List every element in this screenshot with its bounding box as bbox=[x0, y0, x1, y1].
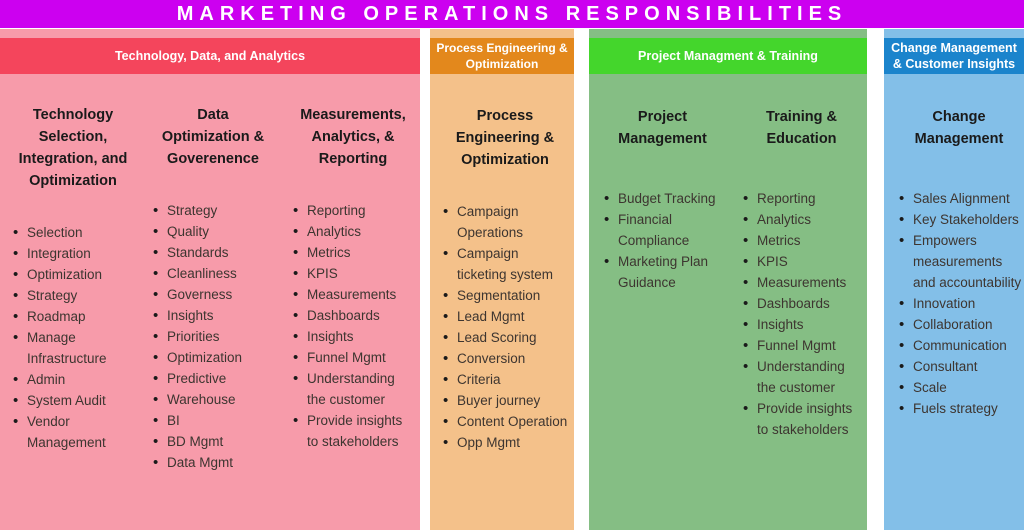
list-item: Opp Mgmt bbox=[440, 432, 570, 453]
subcolumn-title: Project Management bbox=[601, 106, 724, 150]
subcolumn-title: Change Management bbox=[896, 106, 1022, 150]
list-item: Warehouse bbox=[150, 389, 276, 410]
list-item: KPIS bbox=[740, 251, 863, 272]
list-item: Measurements bbox=[740, 272, 863, 293]
list-item: Innovation bbox=[896, 293, 1022, 314]
subcolumn-group-process: Process Engineering & Optimization Campa… bbox=[430, 85, 574, 530]
subcolumn-change-management: Change Management Sales Alignment Key St… bbox=[884, 85, 1024, 530]
subcolumn-title: Process Engineering & Optimization bbox=[440, 105, 570, 171]
list-item: Criteria bbox=[440, 369, 570, 390]
list-item: System Audit bbox=[10, 390, 136, 411]
column-header-project-management-training: Project Managment & Training bbox=[589, 38, 867, 74]
list-item: Dashboards bbox=[290, 305, 416, 326]
subcolumn-group-project: Project Management Budget Tracking Finan… bbox=[589, 85, 867, 530]
list-item: Key Stakeholders bbox=[896, 209, 1022, 230]
list-item: Financial Compliance bbox=[601, 209, 724, 251]
list-item: Marketing Plan Guidance bbox=[601, 251, 724, 293]
column-change-management-customer-insights: Change Management & Customer Insights Ch… bbox=[884, 29, 1024, 530]
bullet-list-data-optimization: Strategy Quality Standards Cleanliness G… bbox=[150, 200, 276, 473]
list-item: Analytics bbox=[740, 209, 863, 230]
list-item: Consultant bbox=[896, 356, 1022, 377]
list-item: BD Mgmt bbox=[150, 431, 276, 452]
list-item: Priorities bbox=[150, 326, 276, 347]
list-item: Lead Mgmt bbox=[440, 306, 570, 327]
list-item: Provide insights to stakeholders bbox=[740, 398, 863, 440]
list-item: Empowers measurements and accountability bbox=[896, 230, 1022, 293]
list-item: Quality bbox=[150, 221, 276, 242]
column-technology-data-analytics: Technology, Data, and Analytics Technolo… bbox=[0, 29, 420, 530]
column-process-engineering-optimization: Process Engineering & Optimization Proce… bbox=[430, 29, 574, 530]
bullet-list-technology-selection: Selection Integration Optimization Strat… bbox=[10, 222, 136, 453]
list-item: Insights bbox=[740, 314, 863, 335]
list-item: KPIS bbox=[290, 263, 416, 284]
list-item: Insights bbox=[150, 305, 276, 326]
list-item: Fuels strategy bbox=[896, 398, 1022, 419]
bullet-list-change-management: Sales Alignment Key Stakeholders Empower… bbox=[896, 188, 1022, 419]
list-item: Funnel Mgmt bbox=[290, 347, 416, 368]
list-item: Selection bbox=[10, 222, 136, 243]
column-header-process-engineering-optimization: Process Engineering & Optimization bbox=[430, 38, 574, 74]
list-item: Manage Infrastructure bbox=[10, 327, 136, 369]
list-item: Strategy bbox=[10, 285, 136, 306]
list-item: Dashboards bbox=[740, 293, 863, 314]
list-item: Scale bbox=[896, 377, 1022, 398]
list-item: Standards bbox=[150, 242, 276, 263]
list-item: Predictive bbox=[150, 368, 276, 389]
list-item: Conversion bbox=[440, 348, 570, 369]
subcolumn-title: Training & Education bbox=[740, 106, 863, 150]
list-item: Admin bbox=[10, 369, 136, 390]
subcolumn-process-engineering: Process Engineering & Optimization Campa… bbox=[430, 85, 574, 530]
list-item: Insights bbox=[290, 326, 416, 347]
list-item: Roadmap bbox=[10, 306, 136, 327]
subcolumn-title: Measurements, Analytics, & Reporting bbox=[290, 104, 416, 170]
column-project-management-training: Project Managment & Training Project Man… bbox=[589, 29, 867, 530]
page-title-banner: MARKETING OPERATIONS RESPONSIBILITIES bbox=[0, 0, 1024, 28]
subcolumn-measurements-analytics: Measurements, Analytics, & Reporting Rep… bbox=[280, 85, 420, 530]
list-item: Budget Tracking bbox=[601, 188, 724, 209]
bullet-list-project-management: Budget Tracking Financial Compliance Mar… bbox=[601, 188, 724, 293]
list-item: Optimization bbox=[10, 264, 136, 285]
list-item: Provide insights to stakeholders bbox=[290, 410, 416, 452]
page-title: MARKETING OPERATIONS RESPONSIBILITIES bbox=[177, 0, 848, 28]
list-item: Understanding the customer bbox=[290, 368, 416, 410]
list-item: Funnel Mgmt bbox=[740, 335, 863, 356]
list-item: Metrics bbox=[740, 230, 863, 251]
subcolumn-data-optimization: Data Optimization & Goverenence Strategy… bbox=[140, 85, 280, 530]
list-item: Vendor Management bbox=[10, 411, 136, 453]
list-item: Sales Alignment bbox=[896, 188, 1022, 209]
list-item: Governess bbox=[150, 284, 276, 305]
list-item: Campaign ticketing system bbox=[440, 243, 570, 285]
list-item: Campaign Operations bbox=[440, 201, 570, 243]
bullet-list-measurements-analytics: Reporting Analytics Metrics KPIS Measure… bbox=[290, 200, 416, 452]
list-item: Buyer journey bbox=[440, 390, 570, 411]
subcolumn-technology-selection: Technology Selection, Integration, and O… bbox=[0, 85, 140, 530]
subcolumn-title: Technology Selection, Integration, and O… bbox=[10, 104, 136, 192]
list-item: Understanding the customer bbox=[740, 356, 863, 398]
list-item: Collaboration bbox=[896, 314, 1022, 335]
list-item: Lead Scoring bbox=[440, 327, 570, 348]
list-item: Metrics bbox=[290, 242, 416, 263]
list-item: Content Operation bbox=[440, 411, 570, 432]
list-item: Analytics bbox=[290, 221, 416, 242]
list-item: Optimization bbox=[150, 347, 276, 368]
list-item: Communication bbox=[896, 335, 1022, 356]
subcolumn-project-management: Project Management Budget Tracking Finan… bbox=[589, 85, 728, 530]
bullet-list-training-education: Reporting Analytics Metrics KPIS Measure… bbox=[740, 188, 863, 440]
list-item: Measurements bbox=[290, 284, 416, 305]
list-item: Segmentation bbox=[440, 285, 570, 306]
subcolumn-group-change: Change Management Sales Alignment Key St… bbox=[884, 85, 1024, 530]
bullet-list-process-engineering: Campaign Operations Campaign ticketing s… bbox=[440, 201, 570, 453]
list-item: Reporting bbox=[740, 188, 863, 209]
subcolumn-title: Data Optimization & Goverenence bbox=[150, 104, 276, 170]
list-item: Integration bbox=[10, 243, 136, 264]
column-header-technology-data-analytics: Technology, Data, and Analytics bbox=[0, 38, 420, 74]
column-header-change-management-customer-insights: Change Management & Customer Insights bbox=[884, 38, 1024, 74]
list-item: Strategy bbox=[150, 200, 276, 221]
list-item: BI bbox=[150, 410, 276, 431]
list-item: Reporting bbox=[290, 200, 416, 221]
list-item: Cleanliness bbox=[150, 263, 276, 284]
list-item: Data Mgmt bbox=[150, 452, 276, 473]
subcolumn-training-education: Training & Education Reporting Analytics… bbox=[728, 85, 867, 530]
infographic-board: MARKETING OPERATIONS RESPONSIBILITIES Te… bbox=[0, 0, 1024, 530]
subcolumn-group-technology: Technology Selection, Integration, and O… bbox=[0, 85, 420, 530]
